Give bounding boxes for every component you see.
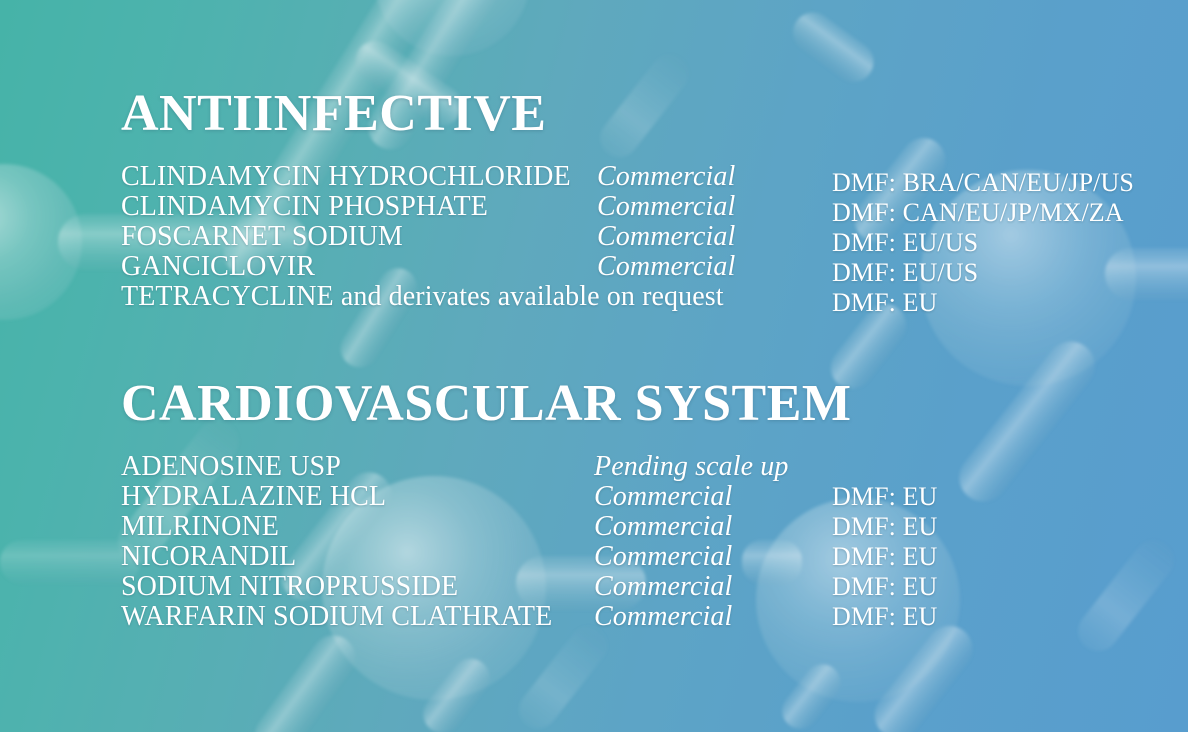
product-dmf-column: DMF: BRA/CAN/EU/JP/US DMF: CAN/EU/JP/MX/… [832, 168, 1134, 318]
product-dmf: DMF: EU [832, 602, 937, 632]
product-name: HYDRALAZINE HCL [121, 482, 552, 512]
slide-content: ANTIINFECTIVE CLINDAMYCIN HYDROCHLORIDE … [0, 0, 1188, 732]
product-status-column: Pending scale up Commercial Commercial C… [594, 452, 788, 632]
product-name-column: ADENOSINE USP HYDRALAZINE HCL MILRINONE … [121, 452, 552, 632]
product-dmf: DMF: EU [832, 542, 937, 572]
product-status: Commercial [594, 542, 788, 572]
product-status: Commercial [594, 482, 788, 512]
section-heading-cardiovascular: CARDIOVASCULAR SYSTEM [121, 378, 851, 430]
product-name: NICORANDIL [121, 542, 552, 572]
product-status [597, 282, 735, 312]
product-dmf: DMF: EU [832, 572, 937, 602]
product-name: SODIUM NITROPRUSSIDE [121, 572, 552, 602]
slide-canvas: ANTIINFECTIVE CLINDAMYCIN HYDROCHLORIDE … [0, 0, 1188, 732]
product-dmf: DMF: EU [832, 482, 937, 512]
section-heading-antiinfective: ANTIINFECTIVE [121, 88, 546, 140]
product-status: Commercial [597, 162, 735, 192]
product-status: Commercial [597, 192, 735, 222]
product-status: Commercial [597, 252, 735, 282]
product-name: WARFARIN SODIUM CLATHRATE [121, 602, 552, 632]
product-status: Commercial [594, 602, 788, 632]
product-dmf: DMF: EU/US [832, 228, 1134, 258]
product-status: Pending scale up [594, 452, 788, 482]
product-status-column: Commercial Commercial Commercial Commerc… [597, 162, 735, 312]
product-dmf: DMF: CAN/EU/JP/MX/ZA [832, 198, 1134, 228]
product-status: Commercial [594, 512, 788, 542]
product-name: ADENOSINE USP [121, 452, 552, 482]
product-dmf-column: DMF: EU DMF: EU DMF: EU DMF: EU DMF: EU [832, 482, 937, 632]
product-name: MILRINONE [121, 512, 552, 542]
product-dmf: DMF: BRA/CAN/EU/JP/US [832, 168, 1134, 198]
product-status: Commercial [594, 572, 788, 602]
product-status: Commercial [597, 222, 735, 252]
product-dmf: DMF: EU [832, 512, 937, 542]
product-dmf: DMF: EU/US [832, 258, 1134, 288]
product-dmf: DMF: EU [832, 288, 1134, 318]
